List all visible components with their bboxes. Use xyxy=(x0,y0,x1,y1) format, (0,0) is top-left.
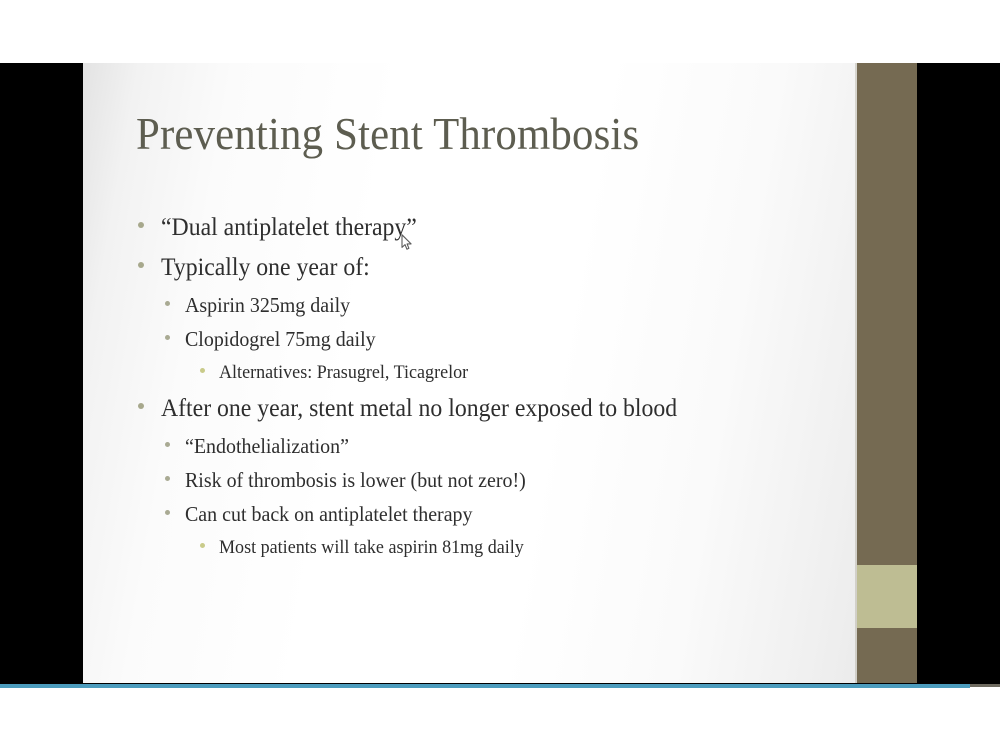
page-background-bottom xyxy=(0,688,1000,750)
list-item: Aspirin 325mg daily xyxy=(138,288,898,322)
list-item: After one year, stent metal no longer ex… xyxy=(138,389,898,429)
screen-root: Preventing Stent Thrombosis “Dual antipl… xyxy=(0,0,1000,750)
list-item-label: “Dual antiplatelet therapy” xyxy=(161,208,417,248)
list-item-label: Risk of thrombosis is lower (but not zer… xyxy=(185,463,526,497)
slide-body-list: “Dual antiplatelet therapy” Typically on… xyxy=(138,208,898,564)
list-item-label: Alternatives: Prasugrel, Ticagrelor xyxy=(219,356,468,389)
list-item: Risk of thrombosis is lower (but not zer… xyxy=(138,463,898,497)
list-item: Most patients will take aspirin 81mg dai… xyxy=(138,531,898,564)
video-progress-remainder[interactable] xyxy=(970,684,1000,687)
bullet-dot-icon xyxy=(165,335,170,340)
slide-title: Preventing Stent Thrombosis xyxy=(136,110,806,159)
list-item: “Dual antiplatelet therapy” xyxy=(138,208,898,248)
list-item-label: After one year, stent metal no longer ex… xyxy=(161,389,677,429)
bullet-dot-icon xyxy=(138,222,144,228)
bullet-dot-icon xyxy=(165,301,170,306)
list-item: Clopidogrel 75mg daily xyxy=(138,322,898,356)
list-item-label: Aspirin 325mg daily xyxy=(185,288,350,322)
slide-accent-block xyxy=(857,565,917,628)
bullet-dot-icon xyxy=(138,262,144,268)
bullet-dot-icon xyxy=(165,442,170,447)
bullet-dot-icon xyxy=(165,510,170,515)
list-item-label: Typically one year of: xyxy=(161,248,370,288)
bullet-dot-icon xyxy=(138,403,144,409)
list-item-label: Clopidogrel 75mg daily xyxy=(185,322,376,356)
list-item: “Endothelialization” xyxy=(138,429,898,463)
list-item: Alternatives: Prasugrel, Ticagrelor xyxy=(138,356,898,389)
list-item: Can cut back on antiplatelet therapy xyxy=(138,497,898,531)
list-item-label: “Endothelialization” xyxy=(185,429,349,463)
list-item-label: Can cut back on antiplatelet therapy xyxy=(185,497,473,531)
video-player-stage[interactable]: Preventing Stent Thrombosis “Dual antipl… xyxy=(0,63,1000,686)
bullet-dot-icon xyxy=(200,368,205,373)
list-item-label: Most patients will take aspirin 81mg dai… xyxy=(219,531,524,564)
bullet-dot-icon xyxy=(165,476,170,481)
presentation-slide[interactable]: Preventing Stent Thrombosis “Dual antipl… xyxy=(83,63,917,683)
list-item: Typically one year of: xyxy=(138,248,898,288)
page-background-top xyxy=(0,0,1000,63)
bullet-dot-icon xyxy=(200,543,205,548)
